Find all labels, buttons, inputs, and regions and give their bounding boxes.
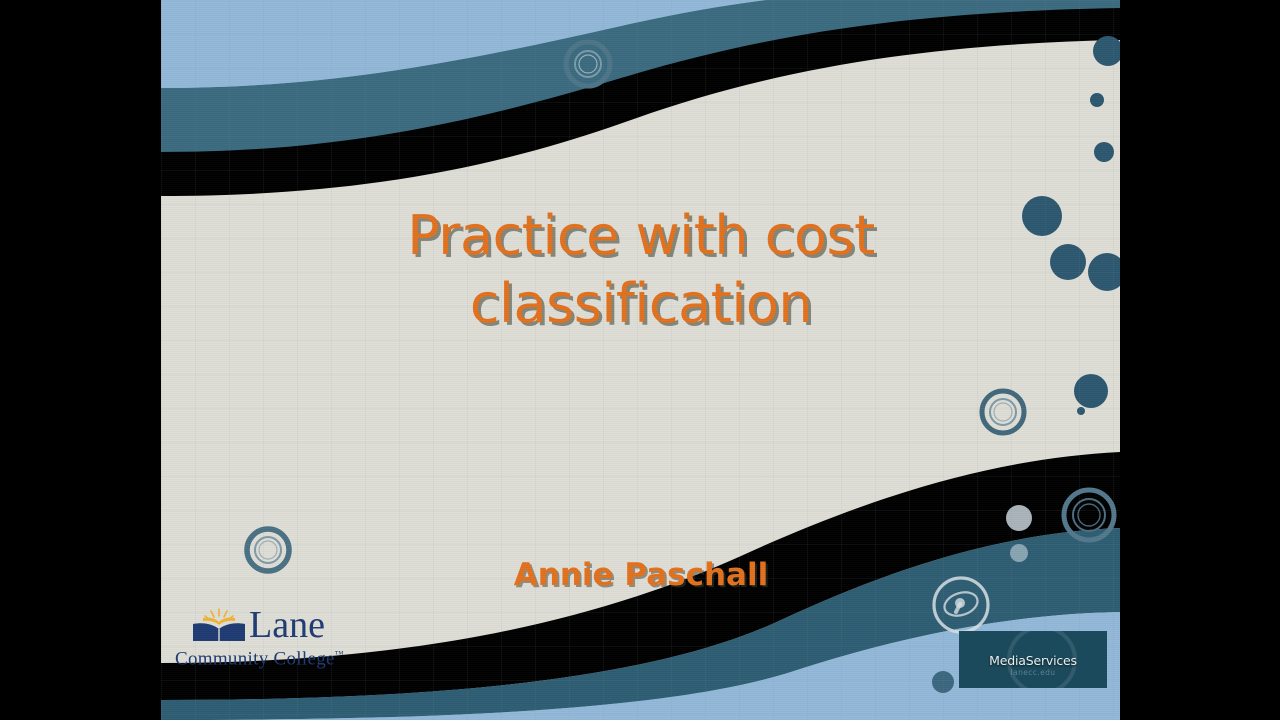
dot-5 bbox=[1050, 244, 1086, 280]
media-services-watermark: MediaServices lanecc.edu bbox=[959, 631, 1107, 688]
media-services-circle-icon bbox=[930, 574, 992, 636]
dot-8 bbox=[1077, 407, 1085, 415]
dot-4 bbox=[1022, 196, 1062, 236]
video-frame: Practice with cost classification Annie … bbox=[0, 0, 1280, 720]
dot-3 bbox=[1094, 142, 1114, 162]
dot-2 bbox=[1090, 93, 1104, 107]
logo-trademark: ™ bbox=[335, 649, 344, 659]
presentation-slide: Practice with cost classification Annie … bbox=[161, 0, 1120, 720]
logo-top-row: Lane bbox=[175, 608, 385, 642]
dot-9 bbox=[1006, 505, 1032, 531]
title-block: Practice with cost classification bbox=[261, 202, 1021, 338]
open-book-sunrise-icon bbox=[191, 608, 247, 642]
subtitle-block: Annie Paschall bbox=[261, 557, 1021, 593]
presenter-name: Annie Paschall bbox=[261, 557, 1021, 593]
logo-wordmark: Lane bbox=[249, 608, 325, 642]
logo-tagline-row: Community College™ bbox=[175, 643, 385, 670]
lane-community-college-logo: Lane Community College™ bbox=[175, 608, 385, 670]
watermark-title: MediaServices bbox=[959, 653, 1107, 668]
letterbox-bar-right bbox=[1120, 0, 1280, 720]
dot-7 bbox=[1074, 374, 1108, 408]
letterbox-bar-left bbox=[0, 0, 161, 720]
logo-tagline: Community College bbox=[175, 648, 335, 669]
page-title: Practice with cost classification bbox=[261, 202, 1021, 338]
watermark-url: lanecc.edu bbox=[959, 668, 1107, 677]
dot-11 bbox=[932, 671, 954, 693]
